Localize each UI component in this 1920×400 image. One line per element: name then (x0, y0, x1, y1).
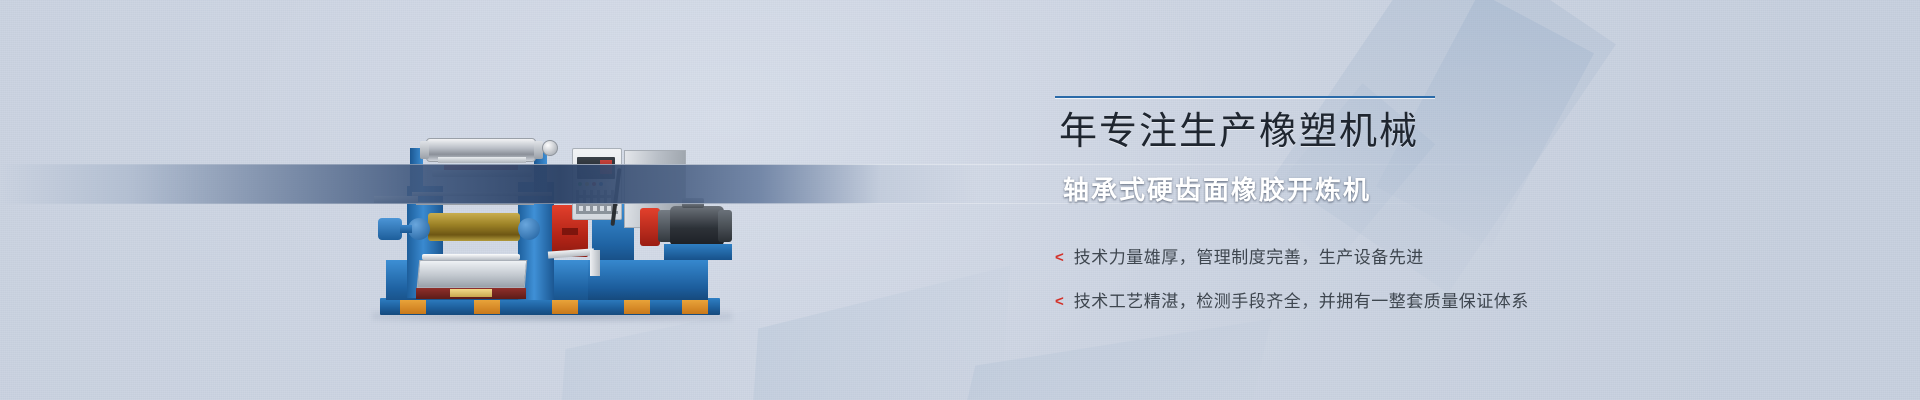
machine-coupling (640, 208, 660, 246)
machine-motor (670, 206, 724, 246)
page-title: 年专注生产橡塑机械 (1055, 113, 1615, 151)
top-roll-end-left (420, 141, 429, 159)
promo-banner: 年专注生产橡塑机械 轴承式硬齿面橡胶开炼机 < 技术力量雄厚，管理制度完善，生产… (0, 0, 1920, 400)
machine-handwheel (542, 140, 558, 156)
machine-foot (552, 300, 578, 314)
chevron-left-icon: < (1055, 294, 1064, 309)
subtitle-bar-highlight-top (0, 164, 1920, 165)
machine-shaft (400, 225, 412, 233)
machine-drive-base (588, 260, 708, 300)
machine-foot (624, 300, 650, 314)
machine-guard-bar (438, 157, 526, 163)
main-roll-end-right (518, 218, 540, 240)
chevron-left-icon: < (1055, 250, 1064, 265)
machine-foot (400, 300, 426, 314)
feature-item: < 技术力量雄厚，管理制度完善，生产设备先进 (1055, 243, 1529, 268)
product-image (352, 110, 752, 332)
machine-bearing (378, 218, 402, 240)
gearbox-label (562, 228, 578, 235)
subtitle-bar-highlight-bottom (0, 203, 1920, 204)
motor-end-cap (718, 210, 732, 242)
product-subtitle: 轴承式硬齿面橡胶开炼机 (1063, 170, 1371, 207)
machine-main-roll (428, 213, 520, 241)
headline-block: 年专注生产橡塑机械 (1055, 96, 1615, 151)
machine-tray (417, 260, 527, 288)
machine-foot (474, 300, 500, 314)
feature-item: < 技术工艺精湛，检测手段齐全，并拥有一整套质量保证体系 (1055, 287, 1529, 312)
machine-foot (682, 300, 708, 314)
background-polygon-4 (749, 266, 1010, 400)
motor-base (664, 244, 732, 260)
machine-piping (590, 250, 600, 276)
feature-text: 技术工艺精湛，检测手段齐全，并拥有一整套质量保证体系 (1074, 287, 1529, 312)
machine-nameplate (450, 289, 492, 297)
headline-divider (1055, 96, 1435, 99)
machine-base-plate (380, 298, 720, 315)
feature-list: < 技术力量雄厚，管理制度完善，生产设备先进 < 技术工艺精湛，检测手段齐全，并… (1055, 243, 1529, 331)
subtitle-bar (0, 164, 1920, 204)
feature-text: 技术力量雄厚，管理制度完善，生产设备先进 (1074, 243, 1424, 268)
